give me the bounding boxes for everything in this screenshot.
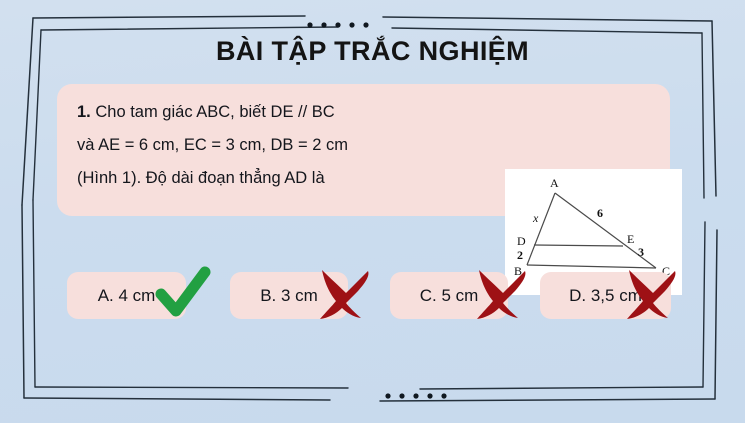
- frame-inner-top-left: [41, 27, 338, 30]
- question-panel: 1. Cho tam giác ABC, biết DE // BC và AE…: [57, 84, 670, 216]
- segment-bc: [527, 265, 656, 268]
- page-title: BÀI TẬP TRẮC NGHIỆM: [0, 36, 745, 67]
- label-vertex-a: A: [550, 176, 559, 190]
- question-line-1: Cho tam giác ABC, biết DE // BC: [95, 103, 334, 121]
- frame-inner-bottom-right: [420, 387, 703, 389]
- frame-inner-right-lower: [703, 222, 705, 387]
- segment-ab: [527, 193, 555, 265]
- slide-canvas: BÀI TẬP TRẮC NGHIỆM 1. Cho tam giác ABC,…: [0, 0, 745, 423]
- question-text: 1. Cho tam giác ABC, biết DE // BC và AE…: [77, 96, 449, 195]
- option-d-label: D. 3,5 cm: [569, 286, 642, 306]
- frame-outer-bottom-left: [24, 398, 330, 400]
- option-a-label: A. 4 cm: [98, 286, 156, 306]
- bottom-dots-group: [385, 393, 446, 398]
- label-segment-3: 3: [638, 245, 644, 259]
- option-a[interactable]: A. 4 cm: [67, 272, 186, 319]
- frame-outer-bottom-right: [380, 399, 715, 401]
- label-segment-x: x: [532, 211, 539, 225]
- segment-de: [534, 245, 623, 246]
- label-segment-2: 2: [517, 248, 523, 262]
- option-b-label: B. 3 cm: [260, 286, 318, 306]
- frame-inner-top-right: [392, 28, 702, 33]
- option-c[interactable]: C. 5 cm: [390, 272, 508, 319]
- frame-outer-right-lower: [715, 230, 717, 399]
- label-vertex-e: E: [627, 232, 634, 246]
- question-line-2: và AE = 6 cm, EC = 3 cm, DB = 2 cm: [77, 136, 348, 154]
- option-b[interactable]: B. 3 cm: [230, 272, 348, 319]
- option-d[interactable]: D. 3,5 cm: [540, 272, 671, 319]
- frame-inner-bottom-left: [35, 387, 348, 388]
- question-number: 1.: [77, 103, 91, 121]
- frame-outer-top-left: [33, 16, 305, 18]
- frame-inner-left-lower: [33, 200, 35, 387]
- option-c-label: C. 5 cm: [420, 286, 479, 306]
- label-vertex-b: B: [514, 264, 522, 278]
- label-segment-6: 6: [597, 206, 603, 220]
- top-dots-group: [307, 22, 368, 27]
- question-line-3: (Hình 1). Độ dài đoạn thẳng AD là: [77, 169, 325, 187]
- label-vertex-d: D: [517, 234, 526, 248]
- frame-outer-left-lower: [22, 205, 24, 398]
- frame-outer-top-right: [383, 17, 712, 21]
